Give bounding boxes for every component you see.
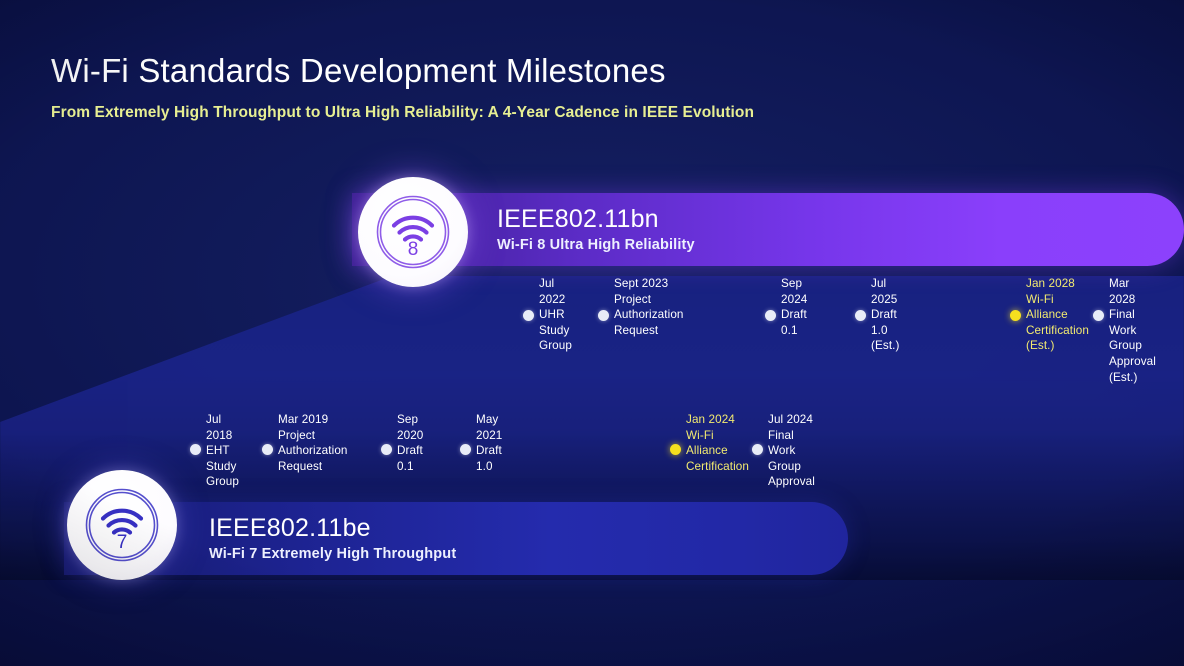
infographic-canvas: Wi-Fi Standards Development Milestones F… — [0, 0, 1184, 666]
milestone-label: Sep 2020 Draft 0.1 — [397, 412, 423, 474]
track-banner-wifi8: IEEE802.11bn Wi-Fi 8 Ultra High Reliabil… — [352, 193, 1184, 266]
milestone-label: Jul 2025 Draft 1.0 (Est.) — [871, 276, 900, 354]
milestone-dot[interactable] — [523, 310, 534, 321]
milestone-dot[interactable] — [765, 310, 776, 321]
wifi-signal-icon: 7 — [79, 482, 165, 568]
milestone-label: Sep 2024 Draft 0.1 — [781, 276, 807, 338]
milestone-label: Mar 2028 Final Work Group Approval (Est.… — [1109, 276, 1156, 385]
milestone-dot[interactable] — [598, 310, 609, 321]
track-generation-wifi8: Wi-Fi 8 Ultra High Reliability — [497, 237, 1184, 253]
page-title: Wi-Fi Standards Development Milestones — [51, 52, 666, 90]
track-standard-wifi7: IEEE802.11be — [209, 515, 848, 541]
milestone-label: Sept 2023 Project Authorization Request — [614, 276, 684, 338]
track-banner-wifi7: IEEE802.11be Wi-Fi 7 Extremely High Thro… — [64, 502, 848, 575]
milestone-dot[interactable] — [855, 310, 866, 321]
milestone-label: Jul 2018 EHT Study Group — [206, 412, 239, 490]
milestone-label: Jul 2022 UHR Study Group — [539, 276, 572, 354]
track-generation-wifi7: Wi-Fi 7 Extremely High Throughput — [209, 546, 848, 562]
milestone-dot[interactable] — [460, 444, 471, 455]
milestone-label: Jan 2028 Wi-Fi Alliance Certification (E… — [1026, 276, 1089, 354]
milestone-dot[interactable] — [190, 444, 201, 455]
wifi-signal-icon: 8 — [370, 189, 456, 275]
milestone-dot[interactable] — [381, 444, 392, 455]
milestone-label: May 2021 Draft 1.0 — [476, 412, 502, 474]
wifi7-logo-badge: 7 — [67, 470, 177, 580]
milestone-label: Mar 2019 Project Authorization Request — [278, 412, 348, 474]
track-standard-wifi8: IEEE802.11bn — [497, 206, 1184, 232]
wifi8-logo-badge: 8 — [358, 177, 468, 287]
milestone-dot[interactable] — [1093, 310, 1104, 321]
milestone-dot[interactable] — [1010, 310, 1021, 321]
milestone-dot[interactable] — [262, 444, 273, 455]
page-subtitle: From Extremely High Throughput to Ultra … — [51, 104, 754, 122]
wifi8-generation-number: 8 — [408, 239, 419, 260]
milestone-dot[interactable] — [752, 444, 763, 455]
milestone-dot[interactable] — [670, 444, 681, 455]
milestone-label: Jan 2024 Wi-Fi Alliance Certification — [686, 412, 749, 474]
wifi7-generation-number: 7 — [117, 532, 128, 553]
milestone-label: Jul 2024 Final Work Group Approval — [768, 412, 815, 490]
